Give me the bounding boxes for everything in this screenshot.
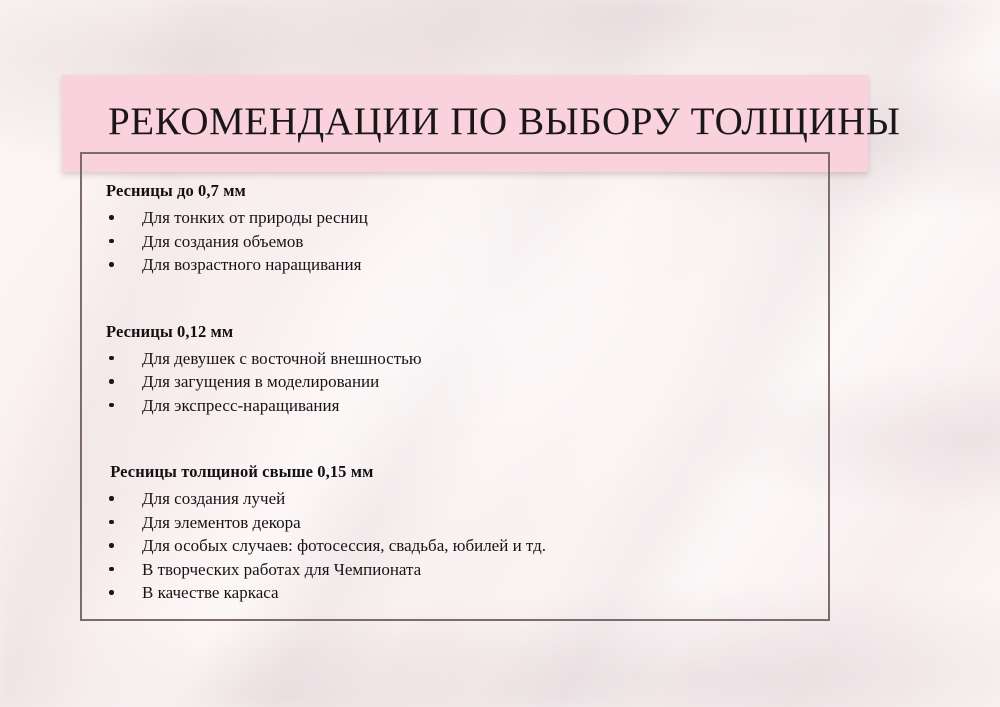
bullet-dot-icon: [109, 379, 114, 384]
list-item: Для возрастного наращивания: [106, 253, 830, 277]
list-item-label: Для создания лучей: [142, 489, 285, 508]
bullet-dot-icon: [109, 543, 114, 548]
bullet-dot-icon: [109, 215, 114, 220]
slide-title: РЕКОМЕНДАЦИИ ПО ВЫБОРУ ТОЛЩИНЫ: [108, 97, 858, 147]
bullet-dot-icon: [109, 239, 114, 244]
list-item: В качестве каркаса: [106, 581, 830, 605]
bullet-dot-icon: [109, 403, 114, 408]
list-item-label: Для тонких от природы ресниц: [142, 208, 368, 227]
content-area: Ресницы до 0,7 ммДля тонких от природы р…: [82, 154, 830, 619]
bullet-list: Для тонких от природы ресницДля создания…: [106, 206, 830, 277]
list-item: Для экспресс-наращивания: [106, 394, 830, 418]
bullet-dot-icon: [109, 520, 114, 525]
bullet-dot-icon: [109, 356, 114, 361]
section-heading: Ресницы 0,12 мм: [106, 321, 830, 343]
bullet-dot-icon: [109, 496, 114, 501]
list-item-label: Для загущения в моделировании: [142, 372, 379, 391]
list-item: Для загущения в моделировании: [106, 370, 830, 394]
list-item-label: Для особых случаев: фотосессия, свадьба,…: [142, 536, 546, 555]
thickness-section: Ресницы толщиной свыше 0,15 ммДля создан…: [106, 461, 830, 605]
bullet-list: Для девушек с восточной внешностьюДля за…: [106, 347, 830, 418]
list-item: В творческих работах для Чемпионата: [106, 558, 830, 582]
section-heading: Ресницы толщиной свыше 0,15 мм: [106, 461, 830, 483]
slide-canvas: РЕКОМЕНДАЦИИ ПО ВЫБОРУ ТОЛЩИНЫ Ресницы д…: [0, 0, 1000, 707]
thickness-section: Ресницы 0,12 ммДля девушек с восточной в…: [106, 321, 830, 418]
section-heading: Ресницы до 0,7 мм: [106, 180, 830, 202]
list-item-label: Для экспресс-наращивания: [142, 396, 339, 415]
bullet-dot-icon: [109, 262, 114, 267]
bullet-dot-icon: [109, 567, 114, 572]
list-item-label: В творческих работах для Чемпионата: [142, 560, 421, 579]
list-item-label: В качестве каркаса: [142, 583, 279, 602]
list-item: Для особых случаев: фотосессия, свадьба,…: [106, 534, 830, 558]
bullet-dot-icon: [109, 590, 114, 595]
list-item-label: Для элементов декора: [142, 513, 301, 532]
list-item-label: Для возрастного наращивания: [142, 255, 361, 274]
list-item: Для создания объемов: [106, 230, 830, 254]
list-item: Для создания лучей: [106, 487, 830, 511]
list-item: Для тонких от природы ресниц: [106, 206, 830, 230]
thickness-section: Ресницы до 0,7 ммДля тонких от природы р…: [106, 180, 830, 277]
list-item: Для элементов декора: [106, 511, 830, 535]
bullet-list: Для создания лучейДля элементов декораДл…: [106, 487, 830, 605]
list-item-label: Для создания объемов: [142, 232, 303, 251]
list-item: Для девушек с восточной внешностью: [106, 347, 830, 371]
list-item-label: Для девушек с восточной внешностью: [142, 349, 422, 368]
